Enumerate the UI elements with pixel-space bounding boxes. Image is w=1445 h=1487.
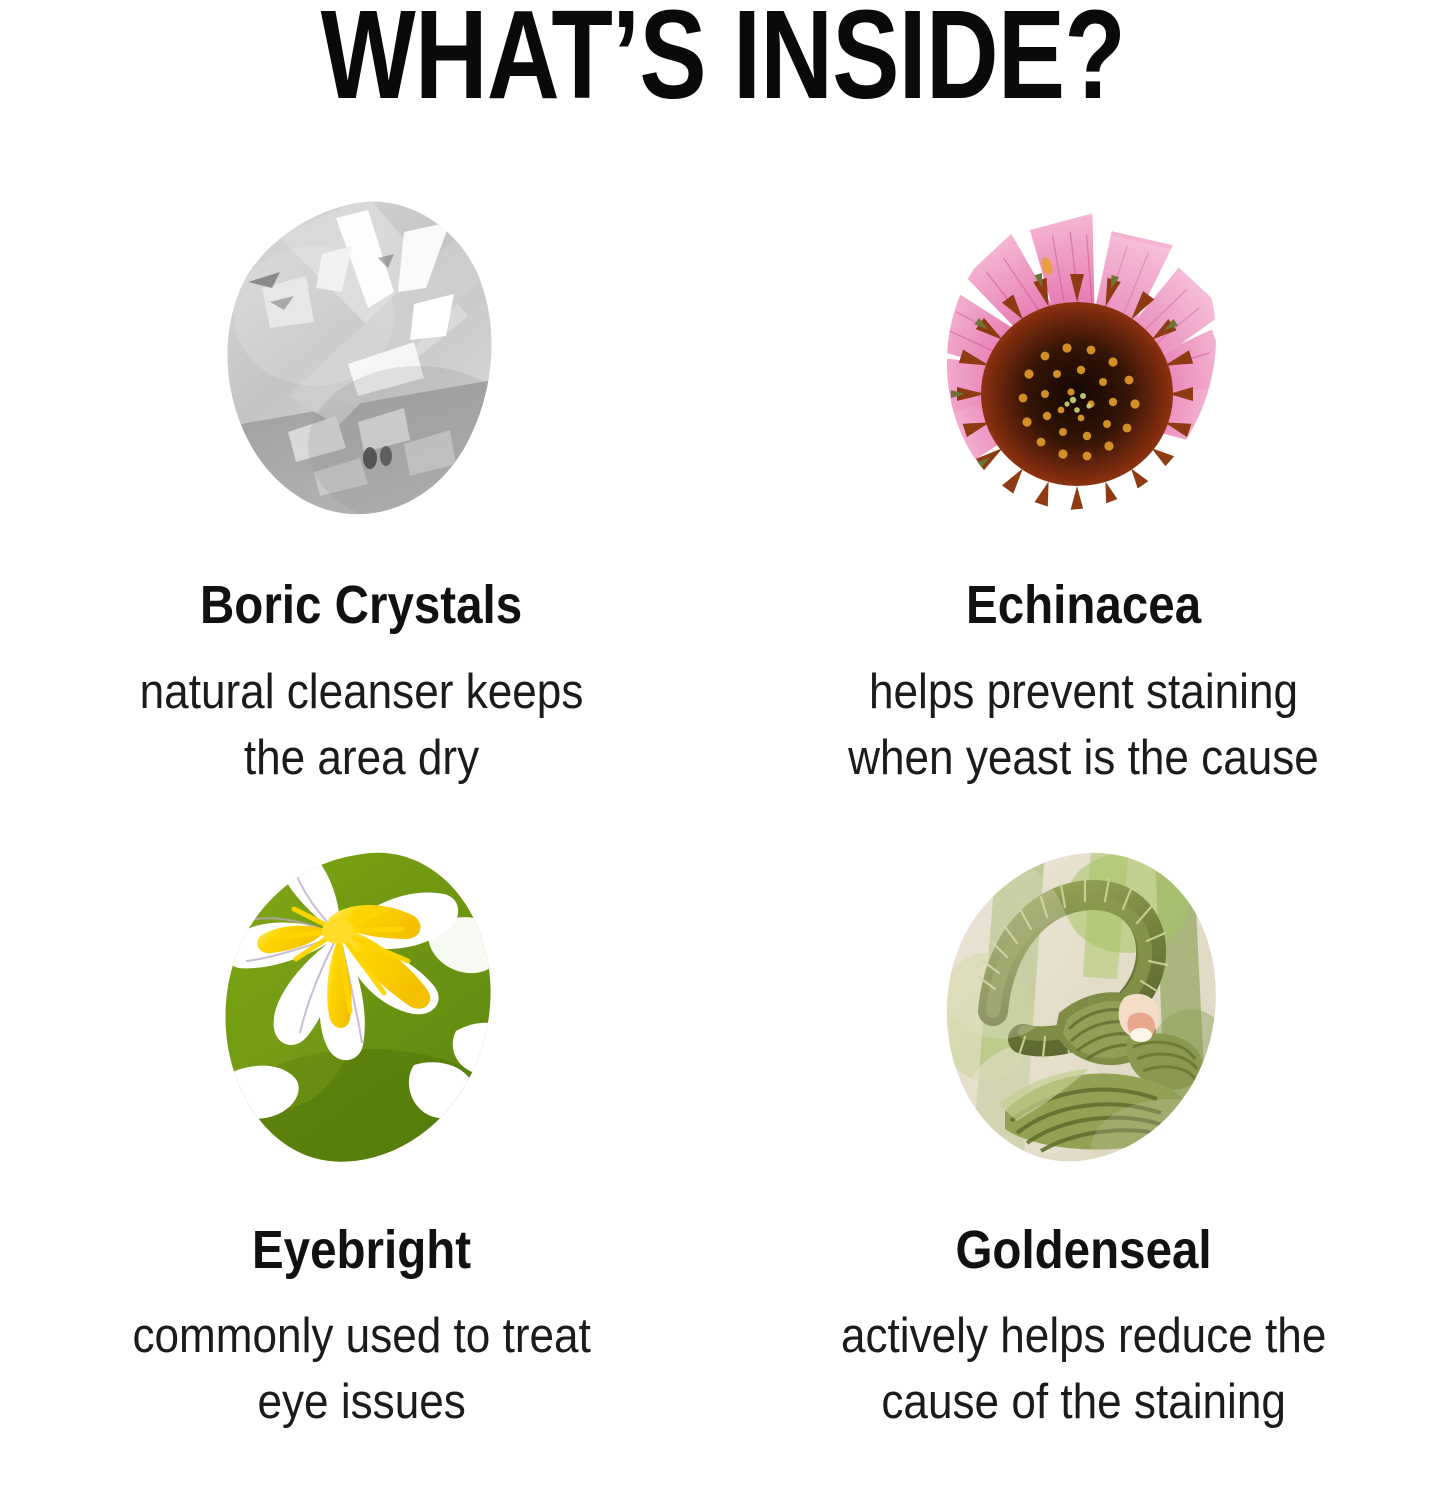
- ingredient-name: Boric Crystals: [200, 578, 522, 633]
- ingredient-description: helps prevent staining when yeast is the…: [848, 660, 1319, 791]
- ingredient-description: actively helps reduce the cause of the s…: [841, 1304, 1326, 1435]
- ingredient-card-eyebright: Eyebright commonly used to treat eye iss…: [0, 849, 723, 1435]
- goldenseal-plant-photo: [941, 849, 1227, 1171]
- ingredient-card-boric-crystals: Boric Crystals natural cleanser keeps th…: [0, 196, 723, 791]
- ingredient-name: Goldenseal: [956, 1223, 1212, 1278]
- boric-crystal-photo: [218, 196, 504, 518]
- ingredient-description: natural cleanser keeps the area dry: [139, 660, 583, 791]
- ingredient-grid: Boric Crystals natural cleanser keeps th…: [0, 196, 1445, 1436]
- ingredient-name: Echinacea: [966, 578, 1201, 633]
- whats-inside-infographic: WHAT’S INSIDE?: [0, 0, 1445, 1487]
- eyebright-flower-photo: [218, 849, 504, 1171]
- ingredient-card-echinacea: Echinacea helps prevent staining when ye…: [723, 196, 1445, 791]
- echinacea-flower-photo: [941, 196, 1227, 518]
- page-title: WHAT’S INSIDE?: [320, 0, 1125, 118]
- ingredient-description: commonly used to treat eye issues: [132, 1304, 590, 1435]
- page-title-wrapper: WHAT’S INSIDE?: [0, 0, 1445, 118]
- ingredient-card-goldenseal: Goldenseal actively helps reduce the cau…: [723, 849, 1445, 1435]
- ingredient-name: Eyebright: [252, 1223, 471, 1278]
